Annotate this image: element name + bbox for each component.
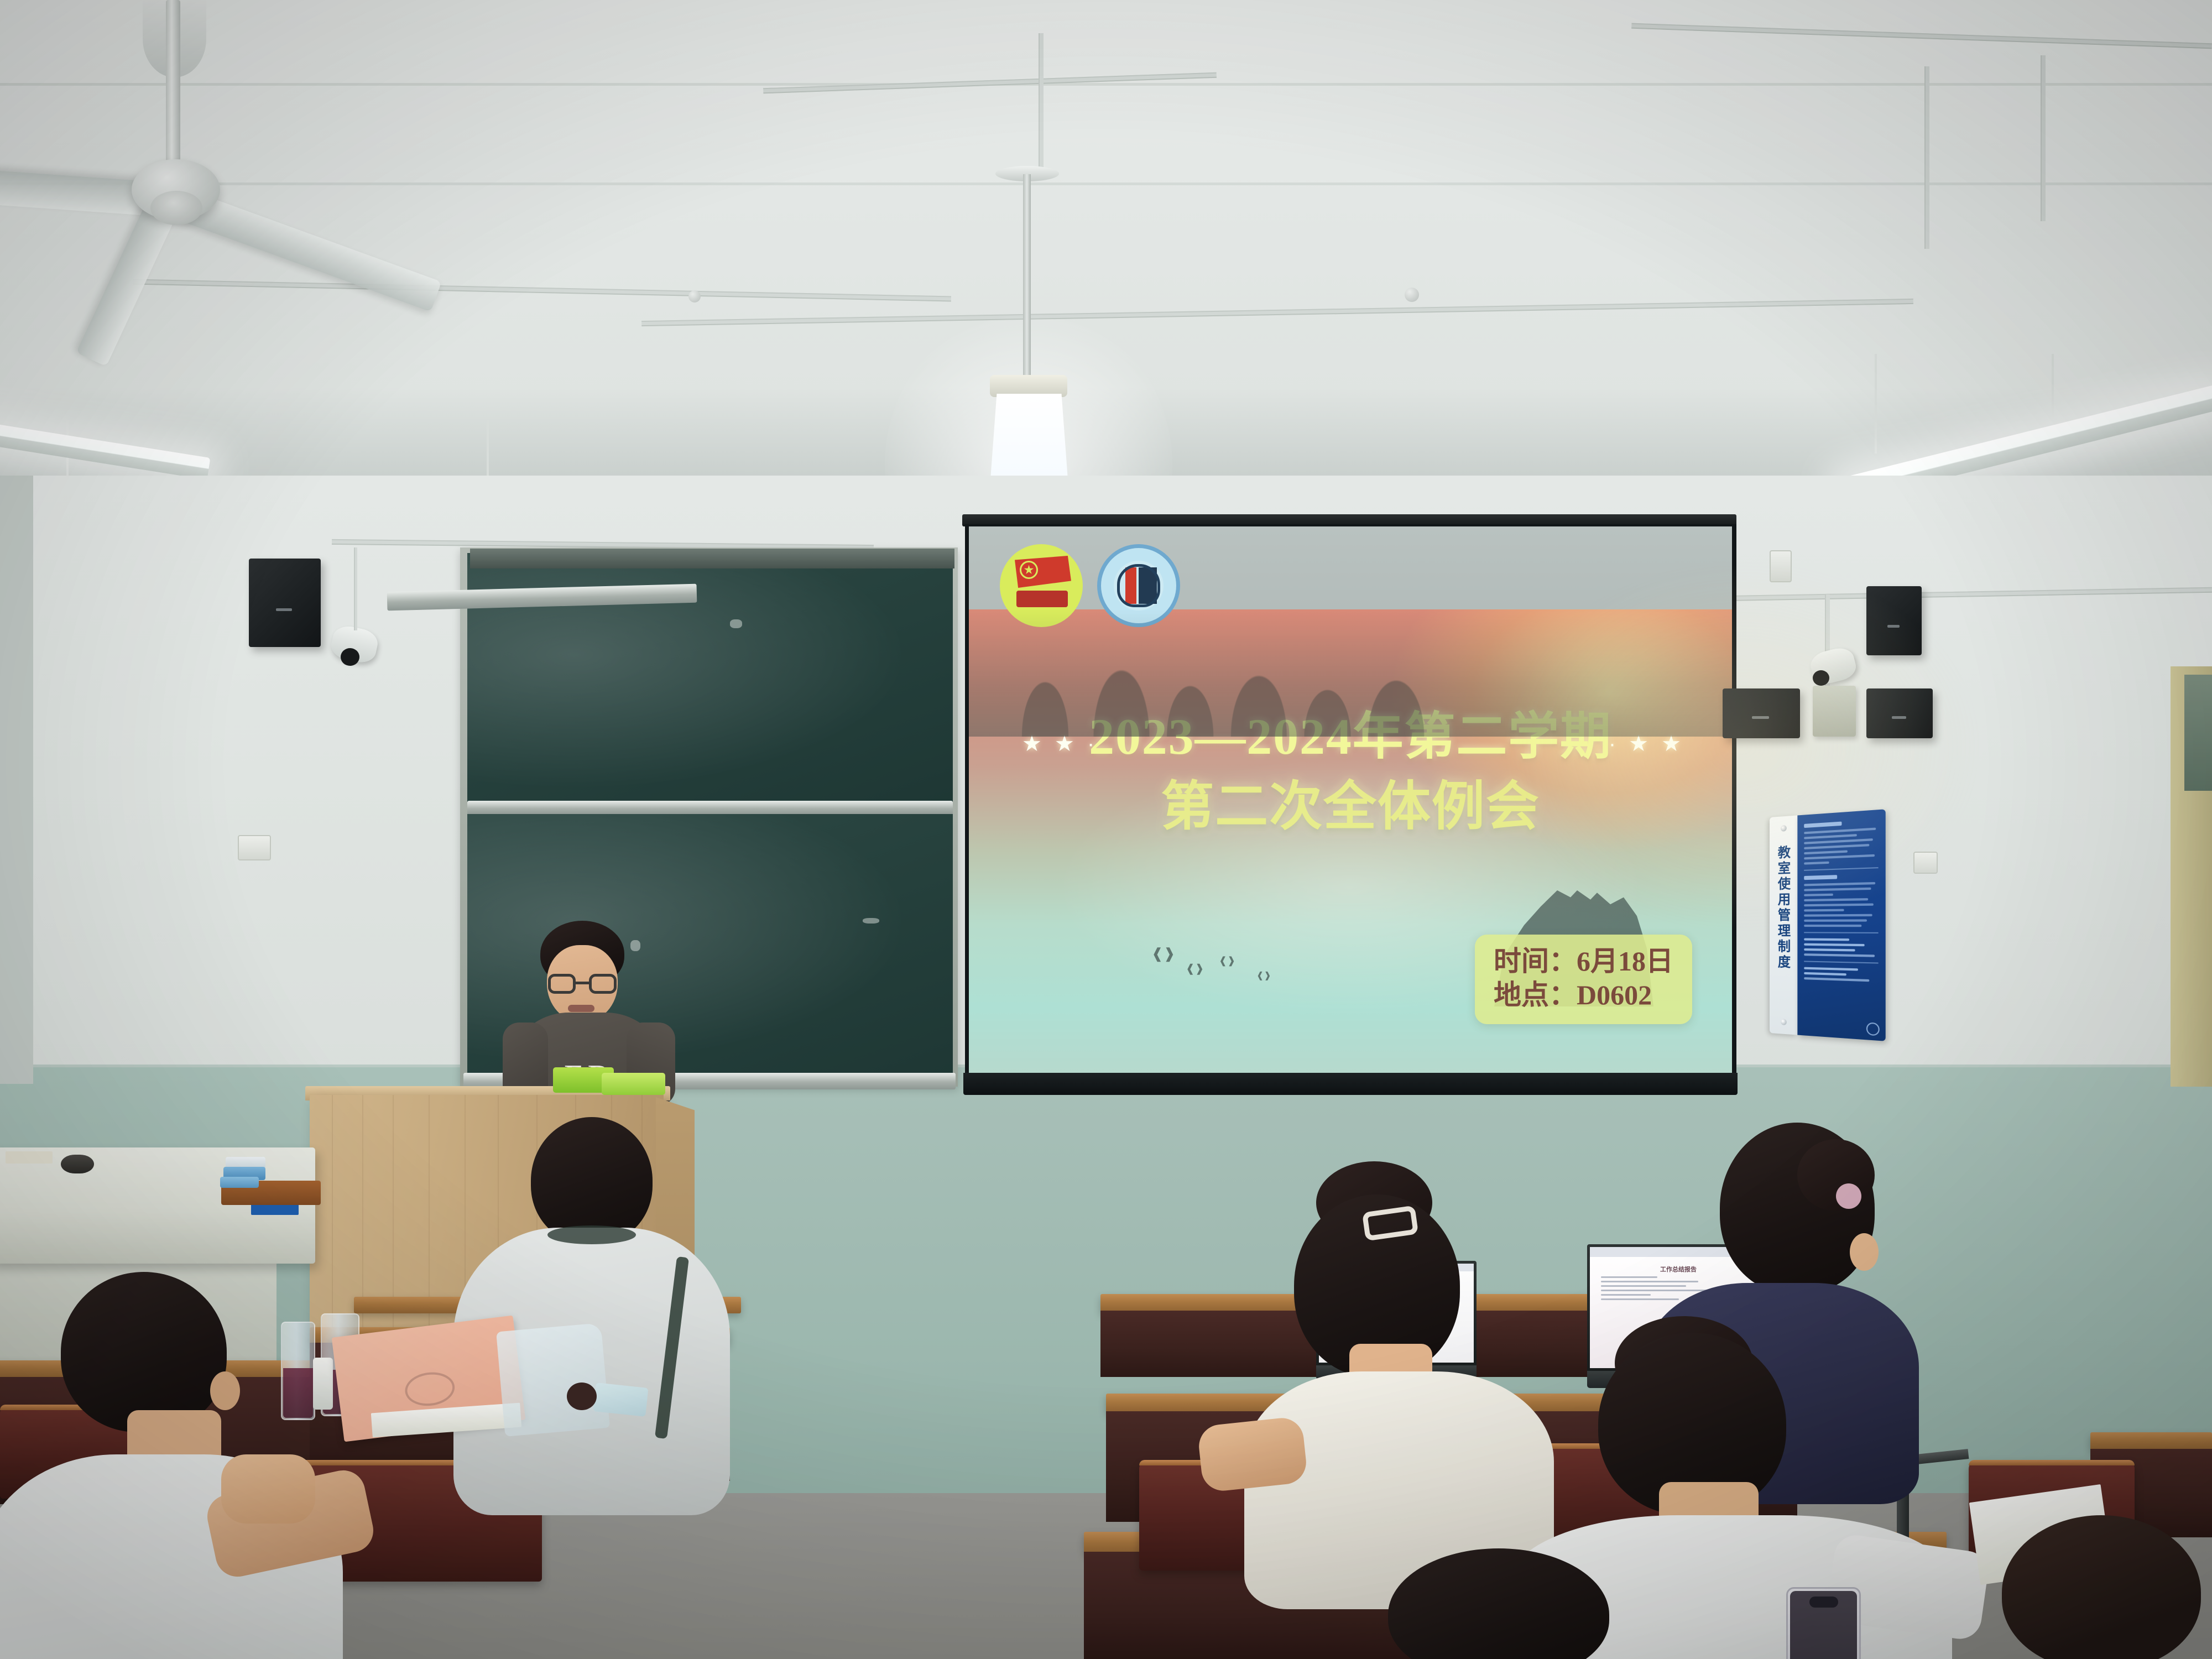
desk-far-right: [2090, 1432, 2212, 1451]
sign-text-line: [1804, 898, 1868, 901]
classroom-rules-sign: 教室使用管理制度: [1770, 809, 1886, 1041]
sign-text-line: [1804, 967, 1858, 971]
wall-speaker-left: [249, 559, 321, 647]
slide-info-place: 地点：D0602: [1494, 978, 1673, 1012]
door-window: [2184, 675, 2212, 791]
blackboard-head-rail: [470, 549, 954, 568]
blackboard-eraser[interactable]: [220, 1177, 259, 1188]
student-bottom-far: [1360, 1532, 1648, 1659]
tissue: [593, 1383, 649, 1417]
wall-speaker-right-lower: [1723, 688, 1800, 738]
bird-silhouette: ❰❱: [1256, 970, 1271, 981]
sign-divider: [1804, 932, 1878, 933]
wall-conduit: [1924, 66, 1929, 249]
bird-silhouette: ❰❱: [1151, 945, 1176, 962]
camera-lens: [1813, 670, 1829, 686]
camera-lens: [341, 648, 359, 666]
sprinkler-head: [688, 290, 701, 302]
sign-logo-icon: [1866, 1022, 1880, 1036]
wall-speaker-right-far: [1866, 688, 1933, 738]
student-arm: [1197, 1416, 1308, 1493]
chalk-mark: [730, 619, 742, 628]
student-bottom-right: [1980, 1515, 2212, 1659]
teacher-console-desk[interactable]: [0, 1147, 315, 1264]
sign-title: 教室使用管理制度: [1776, 845, 1792, 971]
junction-box: [1813, 686, 1856, 737]
student-hair: [2002, 1515, 2201, 1659]
light-wire: [2052, 354, 2054, 420]
ceiling-seam: [0, 182, 2212, 185]
sign-text-line: [1804, 862, 1829, 865]
computer-mouse[interactable]: [61, 1155, 94, 1173]
wall-speaker-right-upper: [1866, 586, 1922, 655]
sign-text-line: [1804, 953, 1874, 957]
sign-text-line: [1804, 838, 1873, 844]
sign-divider: [1804, 867, 1878, 871]
slide-title-line2: 第二次全体例会: [969, 763, 1732, 840]
sign-text-line: [1804, 882, 1875, 886]
wall-left-return: [0, 476, 33, 1084]
sign-text-line: [1804, 909, 1844, 912]
student-hair: [61, 1272, 227, 1432]
console-paper: [6, 1151, 53, 1164]
student-front-left: [0, 1272, 387, 1659]
sign-divider: [1804, 961, 1878, 963]
pendant-rod: [1023, 174, 1031, 379]
student-ear: [1850, 1233, 1879, 1271]
sign-text-line: [1804, 919, 1866, 921]
presentation-slide: ★ ★ · · ★ ★ 2023—2024年第二学期 第二次全体例会 ❰❱ ❰❱…: [969, 609, 1732, 1073]
hair-tie: [1836, 1183, 1861, 1209]
bird-silhouette: ❰❱: [1186, 962, 1204, 975]
green-package: [602, 1073, 665, 1095]
plastic-bag[interactable]: [496, 1323, 610, 1437]
desk-object-dark: [567, 1383, 597, 1410]
wall-outlet[interactable]: [238, 835, 271, 860]
presenter-mouth: [568, 1005, 594, 1012]
ceiling-seam: [0, 83, 2212, 86]
projection-screen: ★ ★ · · ★ ★ 2023—2024年第二学期 第二次全体例会 ❰❱ ❰❱…: [969, 526, 1732, 1073]
bird-silhouette: ❰❱: [1219, 955, 1235, 967]
crowd-silhouette: [969, 609, 1732, 737]
sprinkler-head: [1405, 288, 1419, 302]
blackboard-rail-mid: [467, 801, 953, 815]
sign-text-line: [1804, 850, 1848, 854]
eyeglasses-icon: [548, 974, 617, 994]
sign-text-line: [1804, 903, 1874, 906]
sign-text-line: [1804, 844, 1869, 849]
wall-conduit: [2041, 55, 2046, 221]
sign-text-line: [1804, 972, 1846, 975]
sign-text-line: [1804, 977, 1869, 982]
sign-text-line: [1804, 894, 1833, 896]
screen-bottom-bar: [963, 1073, 1738, 1095]
sign-text-line: [1804, 828, 1876, 834]
sign-text-line: [1804, 834, 1856, 839]
student-ear: [210, 1371, 240, 1410]
student-hands-clasped: [221, 1454, 315, 1524]
sign-text-line: [1804, 925, 1861, 927]
smartphone[interactable]: [1786, 1587, 1861, 1659]
sign-text-line: [1804, 948, 1855, 952]
slide-info-time: 时间：6月18日: [1494, 945, 1673, 978]
sign-section-heading: [1804, 875, 1837, 880]
sign-text-line: [1804, 914, 1872, 917]
student-hair-bun: [1797, 1139, 1875, 1211]
slide-info-box: 时间：6月18日 地点：D0602: [1475, 935, 1692, 1024]
wall-outlet[interactable]: [1770, 550, 1792, 582]
sign-text-line: [1804, 938, 1849, 941]
student-hair: [1388, 1548, 1609, 1659]
fan-cap: [150, 191, 202, 225]
sign-text-line: [1804, 888, 1871, 891]
sign-text-line: [1804, 943, 1864, 947]
classroom-photo: ★ ★ · · ★ ★ 2023—2024年第二学期 第二次全体例会 ❰❱ ❰❱…: [0, 0, 2212, 1659]
sign-body: [1797, 809, 1885, 1041]
student-at-podium: [442, 1117, 730, 1504]
screen-blank-area: [969, 526, 1732, 609]
camera-cable: [354, 547, 357, 630]
sign-text-line: [1804, 854, 1874, 860]
sign-screw: [1781, 825, 1787, 832]
fan-downrod: [166, 0, 180, 166]
wall-conduit: [1039, 33, 1044, 177]
light-wire: [1875, 354, 1877, 453]
sweatshirt-collar: [547, 1225, 636, 1244]
chalk-mark: [863, 918, 879, 924]
sign-section-heading: [1804, 822, 1841, 828]
sign-spine: 教室使用管理制度: [1770, 815, 1797, 1035]
sign-screw: [1781, 1019, 1787, 1025]
wall-outlet[interactable]: [1913, 852, 1938, 874]
